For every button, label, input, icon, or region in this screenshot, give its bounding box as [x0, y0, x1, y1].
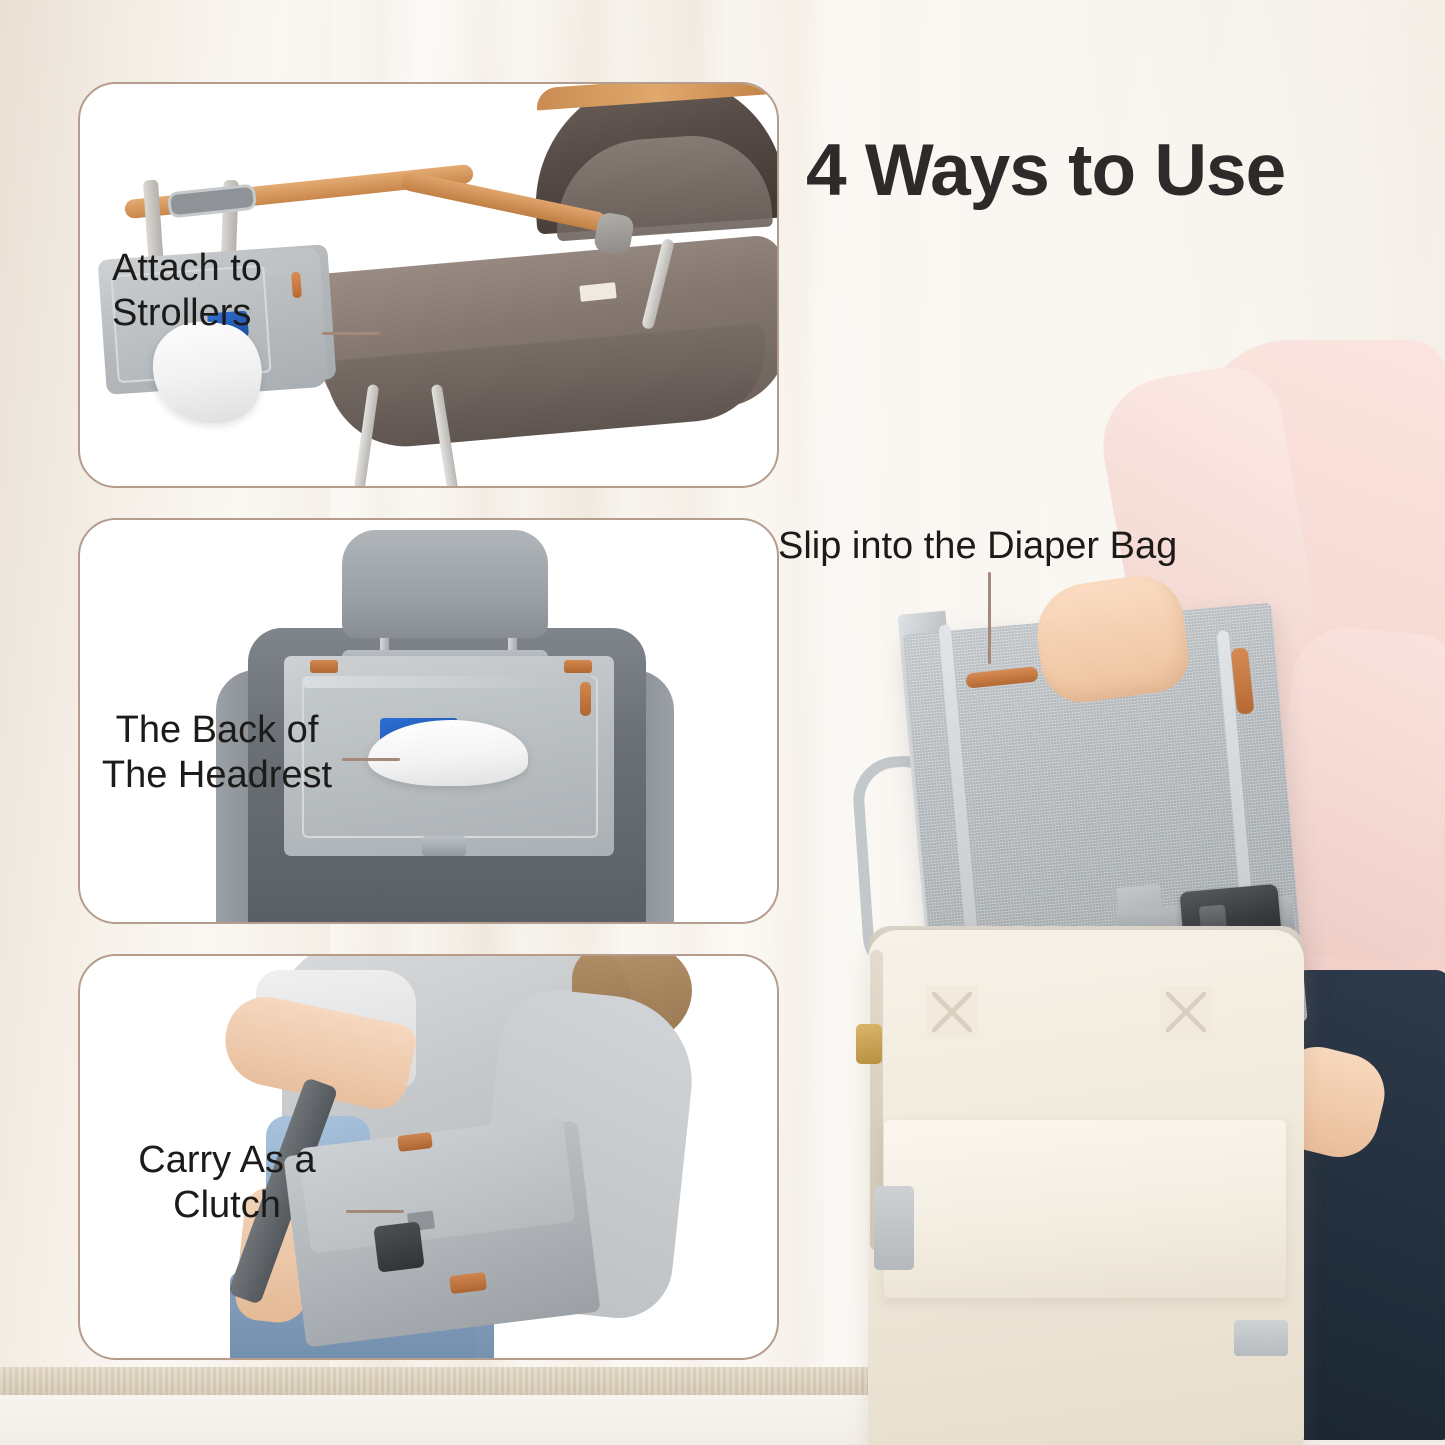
card-label-attach-to-strollers: Attach to Strollers: [112, 246, 262, 336]
card-connector-dash-2: [342, 758, 400, 761]
woman-jeans: [1282, 970, 1445, 1440]
backpack-side-strap-right: [1234, 1320, 1288, 1356]
right-label-slip-into-diaper-bag: Slip into the Diaper Bag: [778, 524, 1177, 570]
usage-card-back-of-headrest[interactable]: The Back of The Headrest: [78, 518, 779, 924]
card-connector-dash-1: [322, 332, 380, 335]
changing-pad-bottom-buckle: [422, 836, 466, 856]
changing-pad-zipper-pull: [580, 682, 591, 716]
card-connector-dash-3: [346, 1210, 404, 1213]
car-headrest: [342, 530, 548, 638]
backpack-front-pocket-flap: [884, 1120, 1286, 1298]
usage-card-attach-to-strollers[interactable]: Attach to Strollers: [78, 82, 779, 488]
leather-tab-right: [564, 660, 592, 673]
right-label-connector-line: [988, 572, 991, 664]
backpack-zipper-pull: [856, 1024, 882, 1064]
page-title: 4 Ways to Use: [806, 134, 1285, 207]
card-label-back-of-headrest: The Back of The Headrest: [92, 708, 342, 798]
diaper-bag-scene-photo: [830, 330, 1445, 1445]
usage-card-carry-as-a-clutch[interactable]: Carry As a Clutch: [78, 954, 779, 1360]
woman-hand-holding-pad: [1031, 570, 1194, 707]
stroller-handle-grip: [167, 183, 257, 218]
backpack-handle-anchor-right: [1160, 986, 1212, 1038]
backpack-side-strap-left: [874, 1186, 914, 1270]
changing-pad-zipper-pull: [291, 272, 302, 299]
changing-pad-zipper: [302, 676, 594, 688]
strap-buckle: [373, 1221, 424, 1272]
infographic-canvas: 4 Ways to Use Attach: [0, 0, 1445, 1445]
backpack-handle-anchor-left: [926, 986, 978, 1038]
leather-tab-left: [310, 660, 338, 673]
card-label-carry-as-a-clutch: Carry As a Clutch: [112, 1138, 342, 1228]
